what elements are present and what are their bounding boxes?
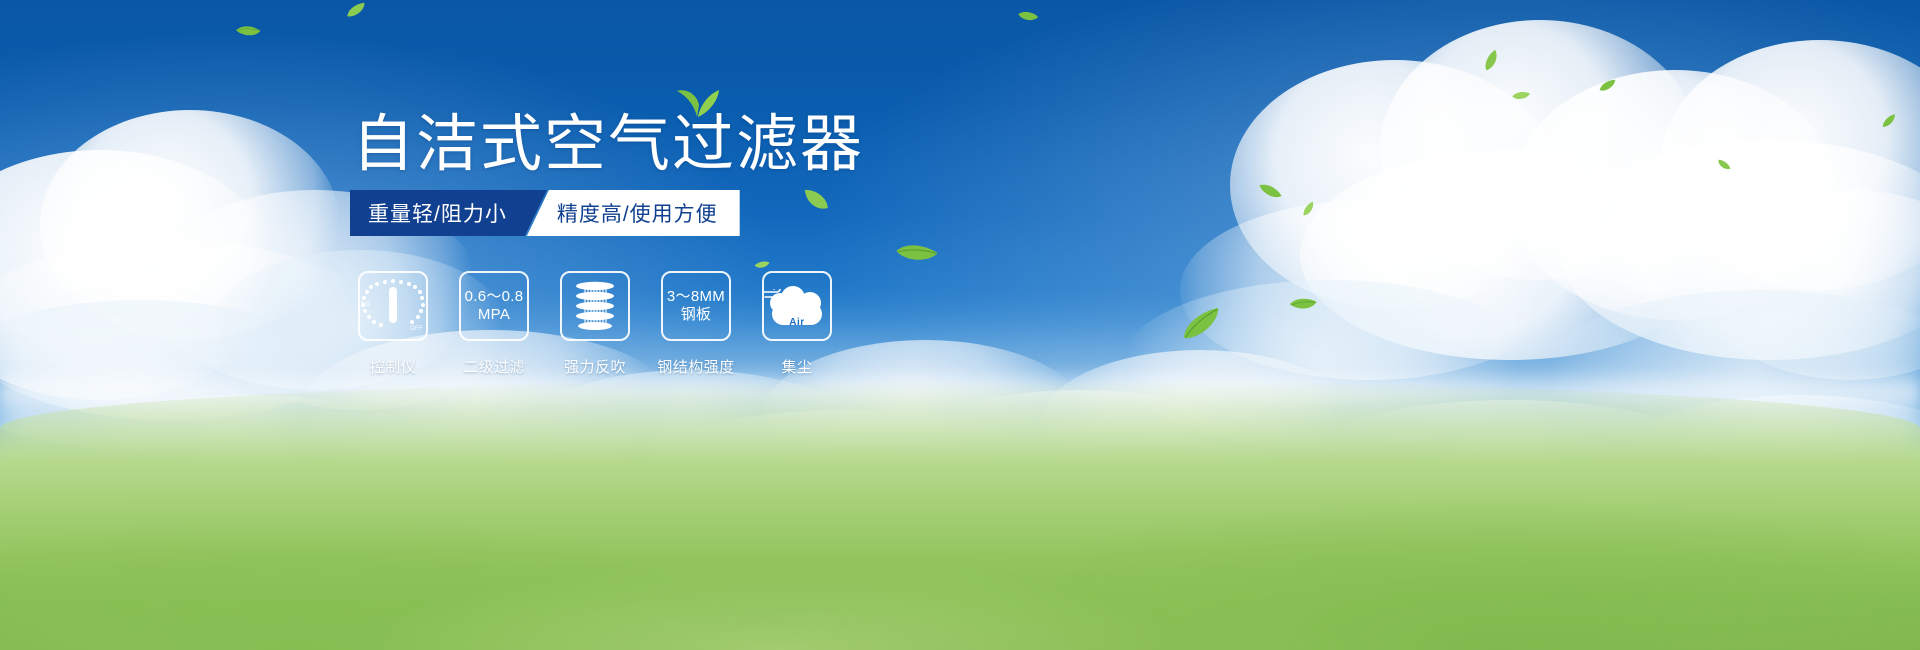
- feature-icon-box: NO OFF: [358, 271, 428, 341]
- air-label: Air: [768, 317, 826, 328]
- filter-cartridge-icon: [572, 280, 618, 332]
- feature-icon-box: 3～8MM 钢板: [661, 271, 731, 341]
- steel-material: 钢板: [667, 306, 725, 324]
- air-cloud-icon: Air: [768, 283, 826, 329]
- steel-plate-text-icon: 3～8MM 钢板: [667, 288, 725, 325]
- page-title: 自洁式空气过滤器: [352, 113, 864, 175]
- feature-list: NO OFF 控制仪 0.6～0.8 MPA 二级过滤: [357, 271, 833, 377]
- feature-caption: 强力反吹: [564, 356, 626, 377]
- feature-icon-box: Air: [762, 271, 832, 341]
- feature-item-controller[interactable]: NO OFF 控制仪: [357, 271, 429, 377]
- badge-weight-resistance[interactable]: 重量轻/阻力小: [350, 190, 547, 236]
- feature-item-secondary-filtration[interactable]: 0.6～0.8 MPA 二级过滤: [458, 271, 530, 377]
- dial-label-no: NO: [361, 302, 371, 308]
- badge-precision-convenience[interactable]: 精度高/使用方便: [527, 190, 740, 236]
- feature-item-steel-strength[interactable]: 3～8MM 钢板 钢结构强度: [660, 271, 732, 377]
- banner-content: 自洁式空气过滤器 重量轻/阻力小 精度高/使用方便: [0, 0, 1920, 650]
- dial-label-off: OFF: [410, 326, 423, 332]
- badge-group: 重量轻/阻力小 精度高/使用方便: [350, 190, 740, 236]
- feature-caption: 钢结构强度: [657, 356, 735, 377]
- pressure-unit: MPA: [465, 306, 524, 324]
- pressure-text-icon: 0.6～0.8 MPA: [465, 288, 524, 325]
- feature-item-dust-collection[interactable]: Air 集尘: [761, 271, 833, 377]
- feature-caption: 集尘: [781, 356, 812, 377]
- feature-icon-box: 0.6～0.8 MPA: [459, 271, 529, 341]
- feature-icon-box: [560, 271, 630, 341]
- badge-label: 重量轻/阻力小: [368, 198, 507, 228]
- control-dial-icon: NO OFF: [362, 275, 424, 337]
- steel-thickness: 3～8MM: [667, 288, 725, 305]
- badge-label: 精度高/使用方便: [557, 198, 718, 228]
- title-leaf-icon: [676, 86, 720, 123]
- banner-stage: 自洁式空气过滤器 重量轻/阻力小 精度高/使用方便: [0, 0, 1920, 650]
- feature-item-backblow[interactable]: 强力反吹: [559, 271, 631, 377]
- feature-caption: 二级过滤: [463, 356, 525, 377]
- pressure-value: 0.6～0.8: [465, 288, 524, 305]
- feature-caption: 控制仪: [370, 356, 417, 377]
